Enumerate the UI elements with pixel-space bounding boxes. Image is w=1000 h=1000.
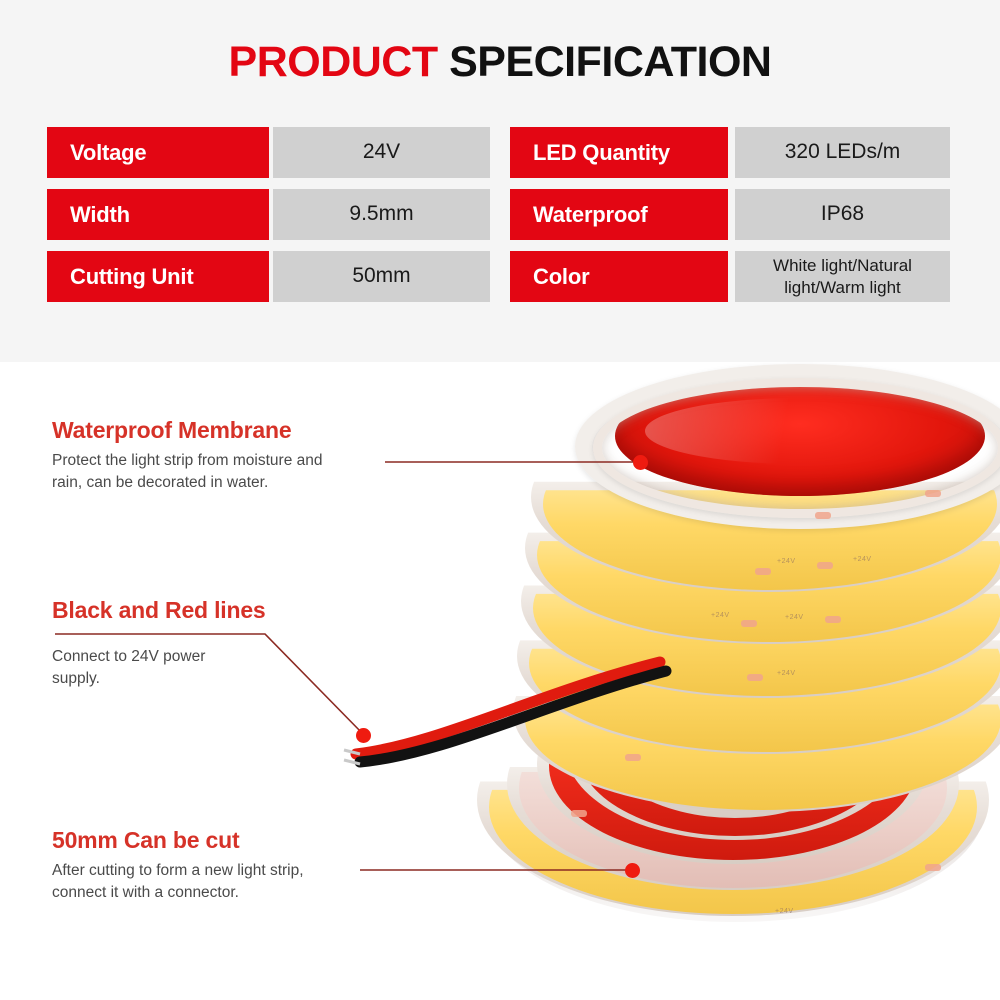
- spec-value-width: 9.5mm: [273, 189, 490, 240]
- spec-value-voltage: 24V: [273, 127, 490, 178]
- page-title-product: PRODUCT: [229, 38, 438, 86]
- feature-section: +24V +24V +24V +24V +24V +24V: [0, 362, 1000, 1000]
- spec-key-voltage: Voltage: [47, 127, 269, 178]
- callout-title-cut: 50mm Can be cut: [52, 827, 304, 854]
- spec-key-led-quantity: LED Quantity: [510, 127, 728, 178]
- spec-value-color: White light/Natural light/Warm light: [735, 251, 950, 302]
- callout-desc-waterproof: Protect the light strip from moisture an…: [52, 450, 323, 495]
- page-title: PRODUCT SPECIFICATION: [0, 38, 1000, 87]
- callout-cut-unit: 50mm Can be cut After cutting to form a …: [52, 827, 304, 905]
- red-wire: [356, 662, 660, 754]
- spec-value-cutting-unit: 50mm: [273, 251, 490, 302]
- page-title-specification: SPECIFICATION: [438, 38, 772, 86]
- callout-desc-wires: Connect to 24V power supply.: [52, 646, 266, 691]
- spec-key-cutting-unit: Cutting Unit: [47, 251, 269, 302]
- spec-key-waterproof: Waterproof: [510, 189, 728, 240]
- leader-endpoint-dot-cut: [625, 863, 640, 878]
- callout-waterproof-membrane: Waterproof Membrane Protect the light st…: [52, 417, 323, 495]
- spec-key-color: Color: [510, 251, 728, 302]
- product-specification-page: PRODUCT SPECIFICATION Voltage 24V Width …: [0, 0, 1000, 1000]
- callout-title-waterproof: Waterproof Membrane: [52, 417, 323, 444]
- specification-section: PRODUCT SPECIFICATION Voltage 24V Width …: [0, 0, 1000, 362]
- spec-value-led-quantity: 320 LEDs/m: [735, 127, 950, 178]
- spec-key-width: Width: [47, 189, 269, 240]
- leader-endpoint-dot-waterproof: [633, 455, 648, 470]
- callout-desc-cut: After cutting to form a new light strip,…: [52, 860, 304, 905]
- spec-value-waterproof: IP68: [735, 189, 950, 240]
- callout-black-and-red-lines: Black and Red lines Connect to 24V power…: [52, 597, 266, 691]
- leader-endpoint-dot-wires: [356, 728, 371, 743]
- callout-title-wires: Black and Red lines: [52, 597, 266, 624]
